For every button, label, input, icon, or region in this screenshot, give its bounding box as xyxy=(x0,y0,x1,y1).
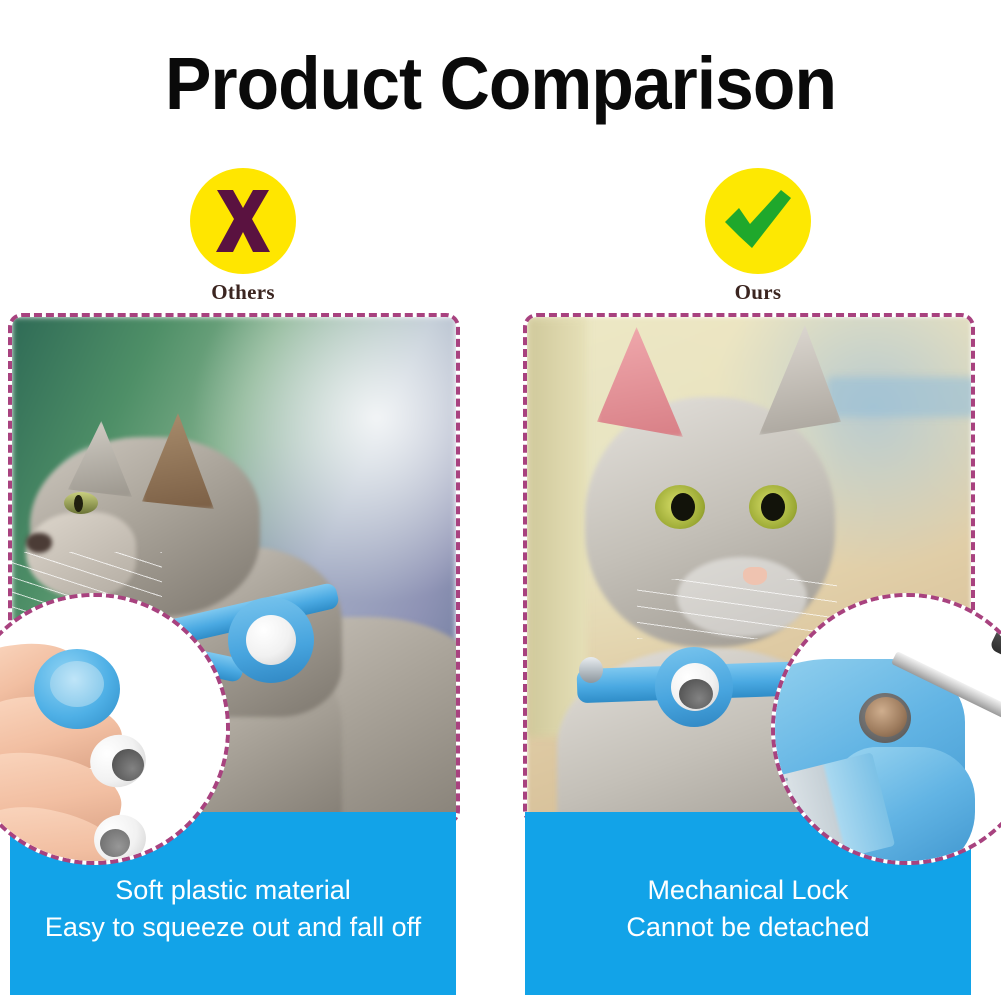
screw-head xyxy=(865,697,907,737)
airtag xyxy=(246,615,296,665)
cat-eye-pupil xyxy=(74,495,83,512)
collar-d-ring xyxy=(579,657,603,683)
badge-others: Others xyxy=(8,168,478,305)
badge-circle-others xyxy=(190,168,296,274)
badge-ours: Ours xyxy=(523,168,993,305)
cat-eye-left-pupil xyxy=(671,493,695,521)
silicone-holder-cavity xyxy=(50,661,104,707)
airtag-shadow xyxy=(679,679,713,709)
comparison-column-others: Others xyxy=(8,168,478,1001)
caption-ours-line-2: Cannot be detached xyxy=(525,909,971,946)
cat-eye-right-pupil xyxy=(761,493,785,521)
badge-label-others: Others xyxy=(8,280,478,305)
badge-circle-ours xyxy=(705,168,811,274)
cat-nose xyxy=(26,533,52,553)
x-mark-icon xyxy=(190,168,296,274)
badge-label-ours: Ours xyxy=(523,280,993,305)
page-title: Product Comparison xyxy=(30,44,971,124)
comparison-column-ours: Ours xyxy=(523,168,993,1001)
background-shelf xyxy=(827,377,971,417)
inset-callout-others xyxy=(0,593,230,865)
caption-ours-line-1: Mechanical Lock xyxy=(525,872,971,909)
caption-others-line-2: Easy to squeeze out and fall off xyxy=(10,909,456,946)
inset-art-others xyxy=(0,597,226,861)
inset-callout-ours xyxy=(771,593,1001,865)
check-mark-icon xyxy=(705,168,811,274)
inset-art-ours xyxy=(775,597,1001,861)
caption-others-line-1: Soft plastic material xyxy=(10,872,456,909)
